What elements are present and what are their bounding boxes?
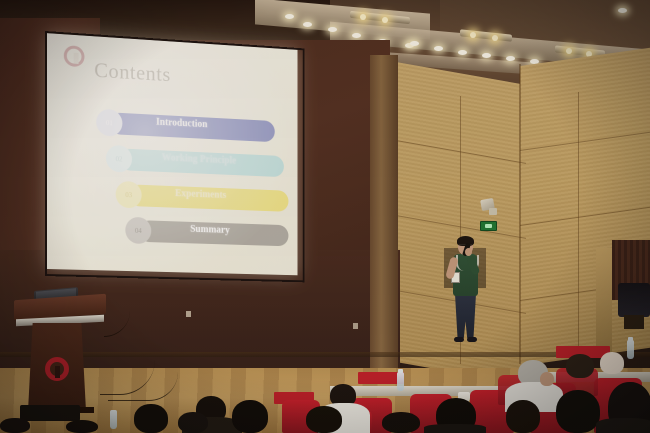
audience-face-profile: [540, 372, 554, 386]
screen-frame: [45, 31, 305, 282]
wall-speaker-bracket: [489, 208, 497, 215]
side-sofa-base: [624, 315, 644, 329]
ceiling-downlight-13: [618, 8, 627, 13]
ceiling-downlight-1: [285, 14, 294, 19]
audience-head-f10: [66, 420, 98, 433]
water-bottle-cap-1: [398, 369, 403, 373]
audience-head-r1: [566, 354, 594, 378]
presenter-legs: [455, 294, 476, 338]
ceiling-downlight-11: [506, 56, 515, 61]
audience-shoulders-f5: [424, 424, 486, 433]
presenter-hand: [465, 248, 472, 256]
audience-head-f11: [0, 418, 30, 433]
audience-head-f6: [506, 400, 540, 433]
audience-head-f3: [232, 400, 268, 433]
ceiling-spotlight-2: [382, 17, 388, 23]
audience-head-f9: [382, 412, 420, 433]
water-bottle-cap-2: [628, 337, 633, 341]
ceiling-spotlight-4: [492, 35, 498, 41]
presenter: [448, 238, 484, 350]
audience-head-f7: [556, 390, 600, 433]
podium: [12, 289, 107, 421]
audience-head-f4: [306, 406, 342, 433]
ceiling-downlight-4: [352, 33, 361, 38]
ceiling-spotlight-5: [566, 48, 572, 54]
side-wood-panel: [596, 248, 612, 358]
exit-sign-icon: [480, 221, 497, 231]
ceiling-spotlight-3: [470, 32, 476, 38]
floor-equipment-case: [20, 405, 80, 421]
ceiling-downlight-2: [303, 22, 312, 27]
ceiling-downlight-7: [410, 41, 419, 46]
audience-shoulders-f8: [596, 418, 650, 433]
water-bottle-4: [110, 410, 117, 429]
wall-outlet-2: [353, 323, 358, 329]
ceiling-downlight-10: [482, 53, 491, 58]
ceiling-downlight-8: [434, 46, 443, 51]
wall-outlet-1: [186, 311, 191, 317]
audience-head-r2: [600, 352, 624, 374]
audience-head-f1: [134, 404, 168, 433]
water-bottle-1: [397, 372, 404, 391]
ceiling-downlight-9: [458, 50, 467, 55]
ceiling-spotlight-1: [360, 14, 366, 20]
wall-vertical-seam-2: [578, 92, 579, 360]
podium-c-logo: [45, 357, 69, 381]
presenter-shoe-left: [454, 337, 464, 342]
ceiling-downlight-3: [328, 27, 337, 32]
audience-head-f2: [178, 412, 208, 433]
wall-corner-seam: [519, 64, 521, 364]
presenter-shoe-right: [467, 337, 477, 342]
water-bottle-2: [627, 340, 634, 359]
side-sofa: [618, 283, 650, 317]
auditorium-presentation-scene: Contents 01 Introduction 02 Working Prin…: [0, 0, 650, 433]
